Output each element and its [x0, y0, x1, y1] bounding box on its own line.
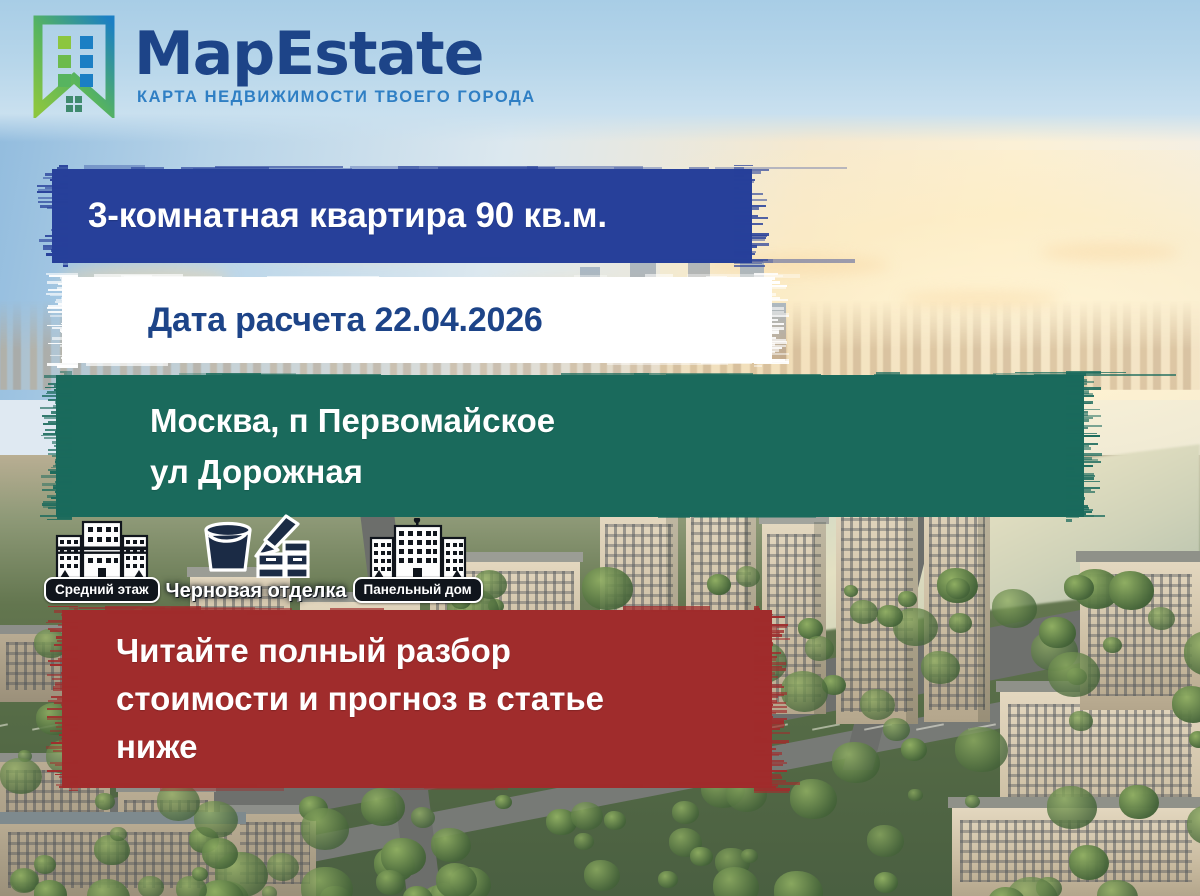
brand-name: MapEstate [134, 25, 536, 84]
title-banner: 3-комнатная квартира 90 кв.м. [38, 164, 768, 268]
panel-building-icon [368, 518, 468, 580]
feature-badges: Средний этаж [44, 516, 483, 603]
logo[interactable]: MapEstate КАРТА НЕДВИЖИМОСТИ ТВОЕГО ГОРО… [28, 14, 536, 118]
cta-line-1: Читайте полный разбор [116, 627, 788, 675]
address-line-1: Москва, п Первомайское [150, 395, 1100, 446]
badge-label: Черновая отделка [166, 580, 347, 603]
badge-mid-floor[interactable]: Средний этаж [44, 518, 160, 603]
badge-panel-house[interactable]: Панельный дом [353, 518, 483, 603]
address-banner: Москва, п Первомайское ул Дорожная [42, 370, 1100, 522]
date-text: Дата расчета 22.04.2026 [48, 301, 788, 340]
bookmark-building-icon [28, 14, 120, 118]
property-promo-poster: MapEstate КАРТА НЕДВИЖИМОСТИ ТВОЕГО ГОРО… [0, 0, 1200, 896]
date-banner: Дата расчета 22.04.2026 [48, 272, 788, 368]
brand-tagline: КАРТА НЕДВИЖИМОСТИ ТВОЕГО ГОРОДА [137, 88, 536, 107]
buildings-midfloor-icon [54, 518, 150, 580]
header-bar: MapEstate КАРТА НЕДВИЖИМОСТИ ТВОЕГО ГОРО… [0, 0, 1200, 142]
address-line-2: ул Дорожная [150, 446, 1100, 497]
cta-text: Читайте полный разбор стоимости и прогно… [48, 627, 788, 771]
badge-label: Панельный дом [353, 577, 483, 603]
paint-bucket-trowel-bricks-icon [200, 516, 312, 578]
cta-banner[interactable]: Читайте полный разбор стоимости и прогно… [48, 605, 788, 793]
title-text: 3-комнатная квартира 90 кв.м. [38, 196, 768, 236]
cta-line-2: стоимости и прогноз в статье [116, 675, 788, 723]
badge-label: Средний этаж [44, 577, 160, 603]
address-text: Москва, п Первомайское ул Дорожная [42, 395, 1100, 497]
cta-line-3: ниже [116, 723, 788, 771]
badge-rough-finish[interactable]: Черновая отделка [166, 516, 347, 603]
